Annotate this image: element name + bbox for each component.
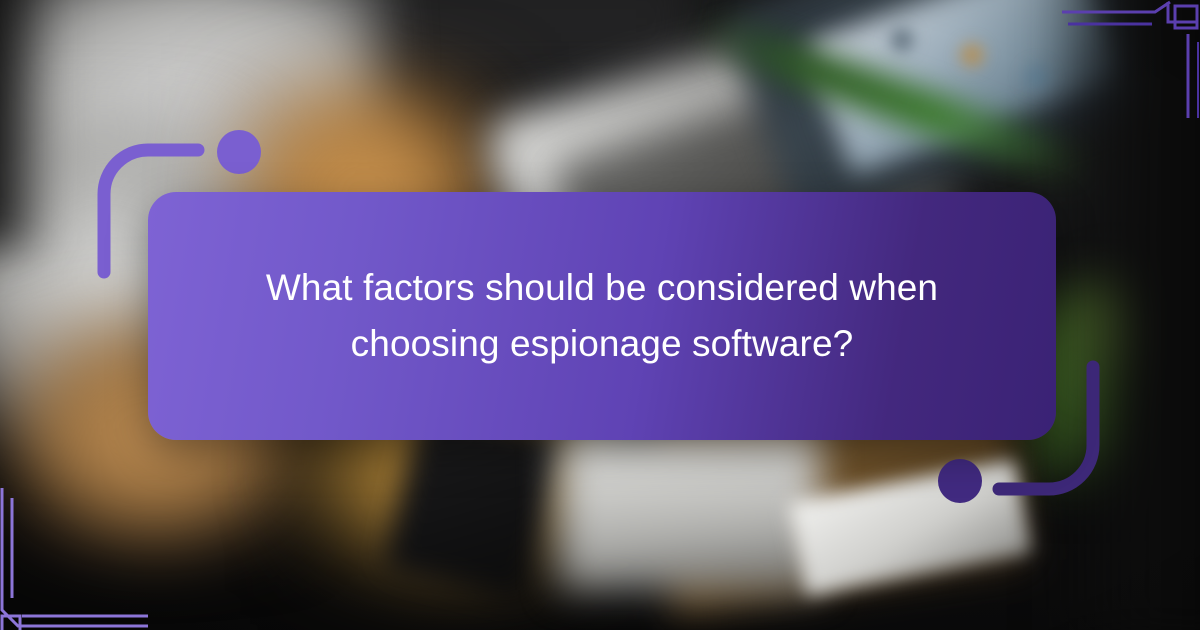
question-text: What factors should be considered when c… <box>208 260 996 372</box>
accent-dot-top <box>217 130 261 174</box>
accent-dot-bottom <box>938 459 982 503</box>
circuit-corner-top-right <box>1060 0 1200 120</box>
circuit-corner-bottom-left <box>0 470 150 630</box>
question-card: What factors should be considered when c… <box>148 192 1056 440</box>
